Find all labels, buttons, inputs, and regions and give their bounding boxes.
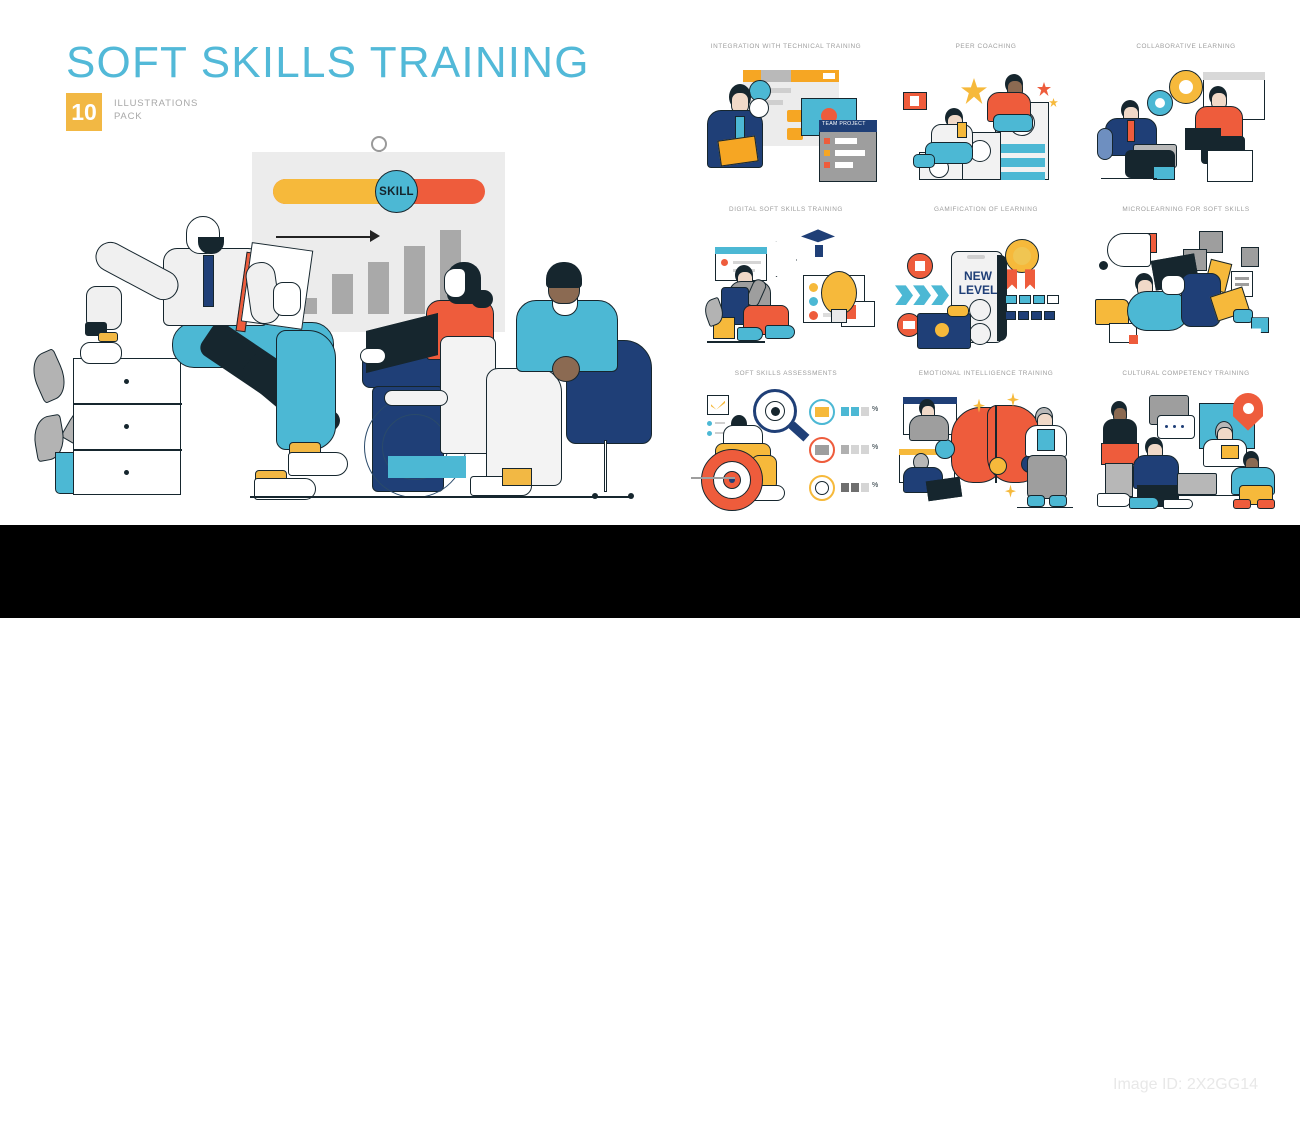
man2-sock — [502, 468, 532, 486]
cell-label: GAMIFICATION OF LEARNING — [934, 206, 1038, 213]
scene-peer-coaching — [891, 54, 1081, 182]
chair-arm-white — [384, 390, 448, 406]
skill-slider-knob[interactable]: SKILL — [375, 170, 418, 213]
man2-hair — [546, 262, 582, 288]
cell-label: SOFT SKILLS ASSESSMENTS — [735, 370, 837, 377]
pack-label-line2: PACK — [114, 110, 198, 123]
cell-label: CULTURAL COMPETENCY TRAINING — [1122, 370, 1249, 377]
scene-gamification: NEW LEVEL — [891, 217, 1081, 345]
grid-cell-gamification-of-learning[interactable]: GAMIFICATION OF LEARNING NEW LEVEL — [886, 197, 1086, 360]
scene-cultural-competency — [1091, 381, 1281, 509]
grid-cell-microlearning-for-soft-skills[interactable]: MICROLEARNING FOR SOFT SKILLS — [1086, 197, 1286, 360]
pack-count-badge: 10 — [66, 93, 102, 131]
woman-lower-leg — [388, 456, 466, 478]
new-level-label: NEW LEVEL — [954, 269, 1002, 297]
trainer-hand-right — [273, 282, 301, 316]
scene-digital — [691, 217, 881, 345]
watermark-bar: alamy Image ID: 2X2GG14 www.alamy.com — [0, 525, 1300, 618]
grid-cell-digital-soft-skills-training[interactable]: DIGITAL SOFT SKILLS TRAINING — [686, 197, 886, 360]
cell-label: DIGITAL SOFT SKILLS TRAINING — [729, 206, 843, 213]
cabinet — [73, 358, 181, 495]
board-bar — [368, 262, 389, 314]
scene-collaborative — [1091, 54, 1281, 182]
scene-assessments: % % % — [691, 381, 881, 509]
illustration-canvas: SOFT SKILLS TRAINING 10 ILLUSTRATIONS PA… — [0, 0, 1300, 525]
grid-cell-peer-coaching[interactable]: PEER COACHING — [886, 34, 1086, 197]
floor-line — [250, 496, 630, 498]
pack-label-line1: ILLUSTRATIONS — [114, 97, 198, 110]
illustration-grid: INTEGRATION WITH TECHNICAL TRAINING TEAM… — [686, 34, 1286, 524]
cell-label: COLLABORATIVE LEARNING — [1136, 43, 1235, 50]
board-bar — [404, 246, 425, 314]
man2-hand — [552, 356, 580, 382]
grid-cell-integration-with-technical-training[interactable]: INTEGRATION WITH TECHNICAL TRAINING TEAM… — [686, 34, 886, 197]
hero-illustration: SOFT SKILLS TRAINING 10 ILLUSTRATIONS PA… — [0, 0, 670, 525]
floor-dot — [592, 493, 598, 499]
trainer-tie — [203, 255, 214, 307]
percent-symbol: % — [872, 444, 878, 451]
trainer-shoe — [288, 452, 348, 476]
trainer-pant — [276, 330, 336, 450]
pack-badge-row: 10 ILLUSTRATIONS PACK — [66, 93, 198, 131]
trainer-hand-left — [80, 342, 122, 364]
scene-integration: TEAM PROJECT — [691, 54, 881, 182]
grid-cell-emotional-intelligence-training[interactable]: EMOTIONAL INTELLIGENCE TRAINING — [886, 361, 1086, 524]
grid-cell-soft-skills-assessments[interactable]: SOFT SKILLS ASSESSMENTS — [686, 361, 886, 524]
percent-symbol: % — [872, 482, 878, 489]
cell-label: PEER COACHING — [956, 43, 1017, 50]
progress-arrow-line — [276, 236, 376, 238]
alamy-logo: alamy — [50, 1073, 167, 1123]
grid-cell-collaborative-learning[interactable]: COLLABORATIVE LEARNING — [1086, 34, 1286, 197]
cell-label: MICROLEARNING FOR SOFT SKILLS — [1122, 206, 1249, 213]
floor-dot — [628, 493, 634, 499]
scene-emotional-intelligence — [891, 381, 1081, 509]
image-id-text: Image ID: 2X2GG14 — [1113, 1076, 1258, 1094]
scene-microlearning — [1091, 217, 1281, 345]
alamy-url: www.alamy.com — [1120, 1100, 1258, 1121]
woman-face — [444, 268, 466, 298]
cell-label: INTEGRATION WITH TECHNICAL TRAINING — [711, 43, 861, 50]
trainer-watch — [98, 332, 118, 342]
progress-arrow-head-icon — [370, 230, 380, 242]
chair-stem — [604, 440, 607, 492]
woman-hand — [360, 348, 386, 364]
cell-label: EMOTIONAL INTELLIGENCE TRAINING — [919, 370, 1054, 377]
board-bar — [332, 274, 353, 314]
page-title: SOFT SKILLS TRAINING — [66, 38, 590, 88]
plant-leaf — [26, 348, 73, 404]
pack-label: ILLUSTRATIONS PACK — [114, 93, 198, 123]
percent-symbol: % — [872, 406, 878, 413]
grid-cell-cultural-competency-training[interactable]: CULTURAL COMPETENCY TRAINING — [1086, 361, 1286, 524]
team-project-label: TEAM PROJECT — [822, 121, 866, 127]
woman-ponytail — [471, 290, 493, 308]
